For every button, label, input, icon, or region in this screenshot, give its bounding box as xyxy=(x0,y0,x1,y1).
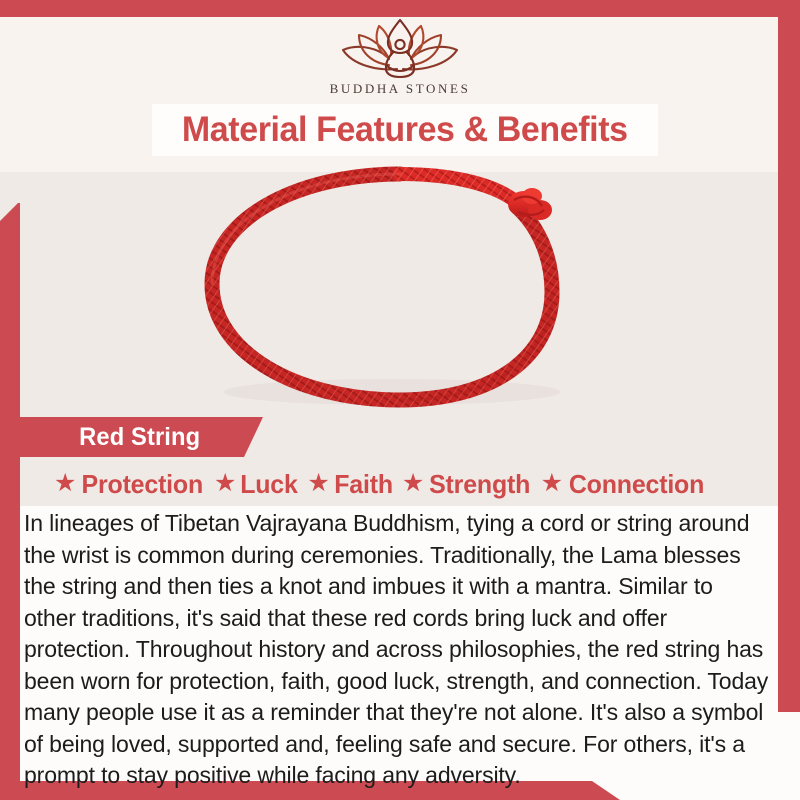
feature-list: ★ Protection ★ Luck ★ Faith ★ Strength ★… xyxy=(54,466,754,502)
feature-item-protection: ★ Protection xyxy=(54,469,206,500)
description-paragraph: In lineages of Tibetan Vajrayana Buddhis… xyxy=(24,508,769,792)
feature-item-connection: ★ Connection xyxy=(541,469,707,500)
page-title: Material Features & Benefits xyxy=(182,110,628,150)
star-icon: ★ xyxy=(541,471,563,496)
decor-right-red-bar xyxy=(778,0,800,712)
star-icon: ★ xyxy=(402,471,424,496)
decor-left-red-bar xyxy=(0,203,20,800)
star-icon: ★ xyxy=(214,471,236,496)
feature-label: Connection xyxy=(569,469,704,500)
material-name-label: Red String xyxy=(79,423,200,452)
infographic-page: BUDDHA STONES Material Features & Benefi… xyxy=(0,0,800,800)
feature-label: Strength xyxy=(429,469,530,500)
brand-logo: BUDDHA STONES xyxy=(0,17,800,103)
feature-label: Protection xyxy=(82,469,204,500)
feature-label: Faith xyxy=(334,469,393,500)
feature-item-faith: ★ Faith xyxy=(307,469,394,500)
product-image xyxy=(100,160,720,418)
material-name-ribbon: Red String xyxy=(20,417,263,457)
decor-top-red-band xyxy=(0,0,800,17)
headline-banner: Material Features & Benefits xyxy=(152,104,658,156)
feature-item-luck: ★ Luck xyxy=(214,469,299,500)
star-icon: ★ xyxy=(54,471,76,496)
feature-item-strength: ★ Strength xyxy=(402,469,533,500)
brand-wordmark: BUDDHA STONES xyxy=(330,81,471,97)
red-string-bracelet-photo xyxy=(100,160,720,418)
feature-label: Luck xyxy=(241,469,298,500)
lotus-meditation-icon xyxy=(337,17,463,79)
star-icon: ★ xyxy=(307,471,329,496)
